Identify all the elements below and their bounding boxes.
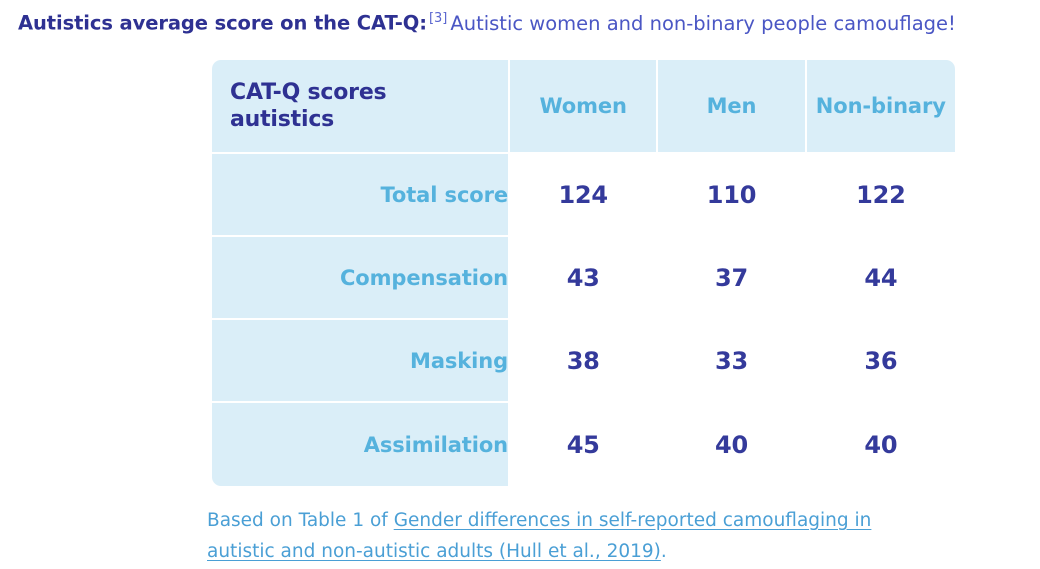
intro-line: Autistics average score on the CAT-Q:[3]… [18, 6, 1033, 37]
caption-prefix: Based on Table 1 of [207, 510, 394, 531]
table-header-label: CAT-Q scores autistics [212, 60, 510, 154]
table-source-caption: Based on Table 1 of Gender differences i… [207, 505, 937, 567]
table-row: Total score 124 110 122 [212, 154, 955, 237]
cell-compensation-non-binary: 44 [807, 237, 955, 320]
cell-total-score-women: 124 [510, 154, 658, 237]
cell-assimilation-women: 45 [510, 403, 658, 486]
row-label-masking: Masking [212, 320, 510, 403]
row-label-total-score: Total score [212, 154, 510, 237]
cell-masking-women: 38 [510, 320, 658, 403]
cell-total-score-men: 110 [658, 154, 806, 237]
column-header-non-binary: Non-binary [807, 60, 955, 154]
column-header-men: Men [658, 60, 806, 154]
table-row: Masking 38 33 36 [212, 320, 955, 403]
cell-total-score-non-binary: 122 [807, 154, 955, 237]
row-label-assimilation: Assimilation [212, 403, 510, 486]
cell-compensation-women: 43 [510, 237, 658, 320]
table-header-row: CAT-Q scores autistics Women Men Non-bin… [212, 60, 955, 154]
cell-masking-men: 33 [658, 320, 806, 403]
table-header-label-line1: CAT-Q scores [230, 80, 386, 105]
intro-rest-text: Autistic women and non-binary people cam… [450, 12, 955, 35]
catq-table-container: CAT-Q scores autistics Women Men Non-bin… [212, 60, 955, 486]
table-header-label-line2: autistics [230, 107, 334, 132]
footnote-reference-3[interactable]: [3] [429, 11, 447, 26]
table-row: Compensation 43 37 44 [212, 237, 955, 320]
row-label-compensation: Compensation [212, 237, 510, 320]
cell-assimilation-men: 40 [658, 403, 806, 486]
cell-compensation-men: 37 [658, 237, 806, 320]
cell-masking-non-binary: 36 [807, 320, 955, 403]
catq-scores-table: CAT-Q scores autistics Women Men Non-bin… [212, 60, 955, 486]
cell-assimilation-non-binary: 40 [807, 403, 955, 486]
column-header-women: Women [510, 60, 658, 154]
caption-suffix: . [661, 541, 667, 562]
intro-lead-text: Autistics average score on the CAT-Q: [18, 12, 427, 35]
table-row: Assimilation 45 40 40 [212, 403, 955, 486]
